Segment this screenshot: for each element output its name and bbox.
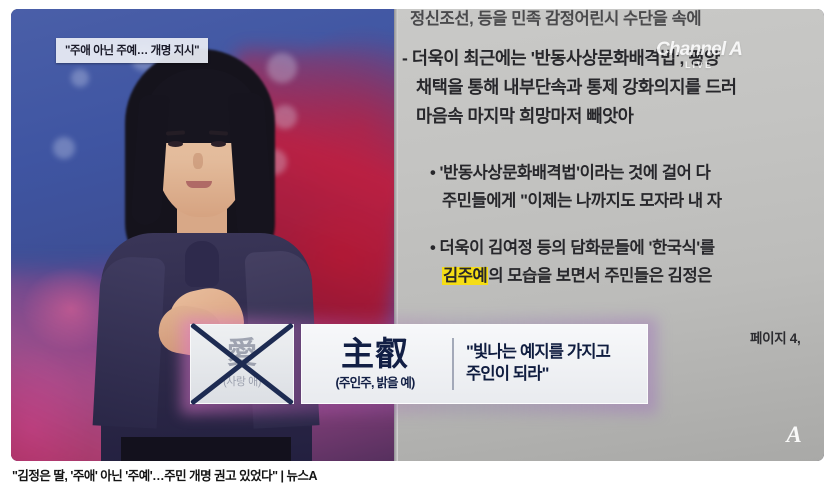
neck-bow	[185, 241, 219, 287]
accepted-name-panel: 主叡 (주인주, 밝을 예) "빛나는 예지를 가지고 주인이 되라"	[301, 324, 648, 404]
caption-title: "김정은 딸, '주애' 아닌 '주예'…주민 개명 권고 있었다"	[12, 469, 278, 483]
rejected-name-box: 愛 (사랑 애)	[190, 324, 294, 404]
doc-bullet-2-line-2: 김주예의 모습을 보면서 주민들은 김정은	[442, 262, 712, 286]
banner-quote: "빛나는 예지를 가지고 주인이 되라"	[454, 342, 647, 386]
accepted-name-block: 主叡 (주인주, 밝을 예)	[302, 337, 452, 391]
doc-line-cut-top: 정신조선, 등을 민족 감정어린시 수단을 속에	[410, 9, 701, 29]
accepted-hanja: 主叡	[302, 337, 448, 371]
bokeh-dot	[71, 69, 89, 87]
caption-text: "김정은 딸, '주애' 아닌 '주예'…주민 개명 권고 있었다" | 뉴스A	[0, 465, 317, 484]
caption-bar: "김정은 딸, '주애' 아닌 '주예'…주민 개명 권고 있었다" | 뉴스A	[0, 461, 835, 488]
doc-line-3: 마음속 마지막 희망마저 빼앗아	[416, 103, 634, 128]
skirt	[121, 437, 291, 461]
cross-out-icon	[191, 325, 293, 403]
doc-line-2: 채택을 통해 내부단속과 통제 강화의지를 드러	[416, 74, 737, 99]
accepted-hanja-reading: (주인주, 밝을 예)	[302, 372, 448, 391]
doc-bullet-1-line-2: 주민들에게 "이제는 나까지도 모자라 내 자	[442, 187, 722, 211]
bokeh-dot	[53, 137, 75, 159]
page-number: 페이지 4,	[750, 327, 800, 347]
video-player-frame[interactable]: "주애 아닌 주예… 개명 지시" 정신조선, 등을 민족 감정어린시 수단을 …	[11, 9, 824, 461]
banner-quote-line-2: 주인이 되라"	[466, 364, 647, 386]
doc-bullet-2-line-2-rest: 의 모습을 보면서 주민들은 김정은	[488, 267, 712, 285]
channel-a-watermark: Channel A LIVE	[656, 40, 742, 70]
headline-chip: "주애 아닌 주예… 개명 지시"	[56, 38, 208, 63]
highlighted-name: 김주예	[442, 267, 488, 285]
eye-left	[168, 141, 183, 147]
doc-bullet-2-line-1: • 더욱이 김여정 등의 담화문들에 '한국식'를	[430, 234, 715, 258]
channel-a-watermark-label: Channel A	[656, 39, 742, 60]
sleeve-left	[93, 255, 166, 428]
lower-third-banner: 愛 (사랑 애) 主叡 (주인주, 밝을 예) "빛나는 예지를 가지고 주인이…	[190, 324, 648, 404]
mouth	[186, 181, 212, 188]
channel-a-live-label: LIVE	[656, 61, 742, 70]
caption-source: | 뉴스A	[278, 469, 317, 483]
channel-a-corner-logo: A	[781, 422, 807, 448]
banner-vertical-divider	[452, 338, 454, 390]
doc-bullet-1-line-1: • '반동사상문화배격법'이라는 것에 걸어 다	[430, 159, 710, 183]
banner-quote-line-1: "빛나는 예지를 가지고	[466, 342, 647, 364]
eye-right	[211, 141, 226, 147]
nose	[193, 153, 203, 169]
screenshot-root: "주애 아닌 주예… 개명 지시" 정신조선, 등을 민족 감정어린시 수단을 …	[0, 0, 835, 488]
